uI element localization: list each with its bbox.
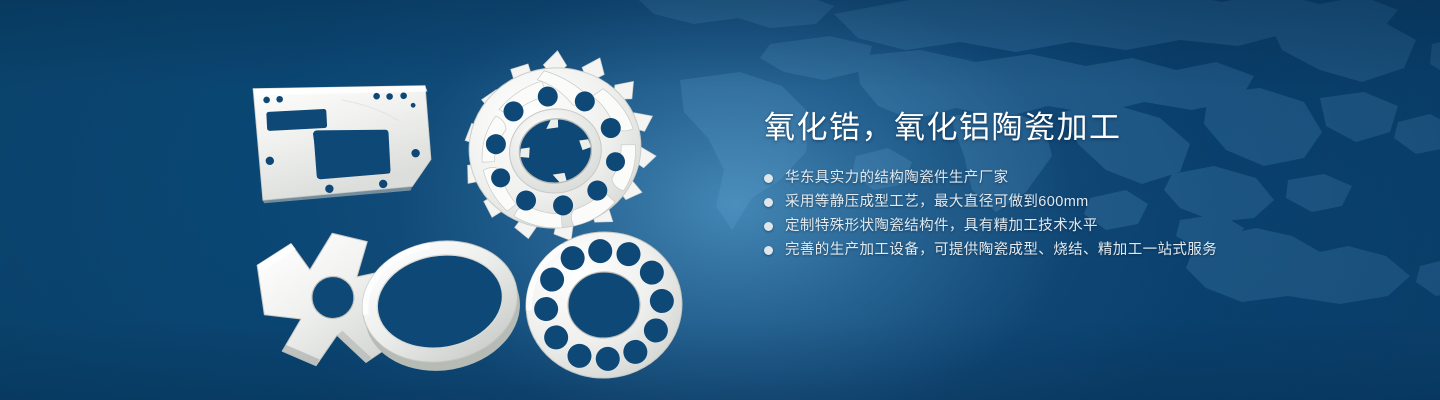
list-item: 完善的生产加工设备，可提供陶瓷成型、烧结、精加工一站式服务 <box>764 242 1384 259</box>
feature-text: 采用等静压成型工艺，最大直径可做到600mm <box>785 194 1089 211</box>
list-item: 华东具实力的结构陶瓷件生产厂家 <box>764 170 1384 187</box>
bullet-dot-icon <box>764 174 773 183</box>
bullet-dot-icon <box>764 222 773 231</box>
list-item: 定制特殊形状陶瓷结构件，具有精加工技术水平 <box>764 218 1384 235</box>
feature-text: 华东具实力的结构陶瓷件生产厂家 <box>785 170 1009 187</box>
ceramic-ring <box>348 222 538 382</box>
ceramic-perforated-disc <box>512 218 697 393</box>
feature-text: 完善的生产加工设备，可提供陶瓷成型、烧结、精加工一站式服务 <box>785 242 1217 259</box>
bullet-dot-icon <box>764 246 773 255</box>
feature-list: 华东具实力的结构陶瓷件生产厂家 采用等静压成型工艺，最大直径可做到600mm 定… <box>764 170 1384 259</box>
banner-copy: 氧化锆，氧化铝陶瓷加工 华东具实力的结构陶瓷件生产厂家 采用等静压成型工艺，最大… <box>764 108 1384 259</box>
bullet-dot-icon <box>764 198 773 207</box>
list-item: 采用等静压成型工艺，最大直径可做到600mm <box>764 194 1384 211</box>
page-title: 氧化锆，氧化铝陶瓷加工 <box>764 108 1384 148</box>
feature-text: 定制特殊形状陶瓷结构件，具有精加工技术水平 <box>785 218 1098 235</box>
ceramic-machined-plate <box>248 78 438 208</box>
promo-banner: 氧化锆，氧化铝陶瓷加工 华东具实力的结构陶瓷件生产厂家 采用等静压成型工艺，最大… <box>0 0 1440 400</box>
